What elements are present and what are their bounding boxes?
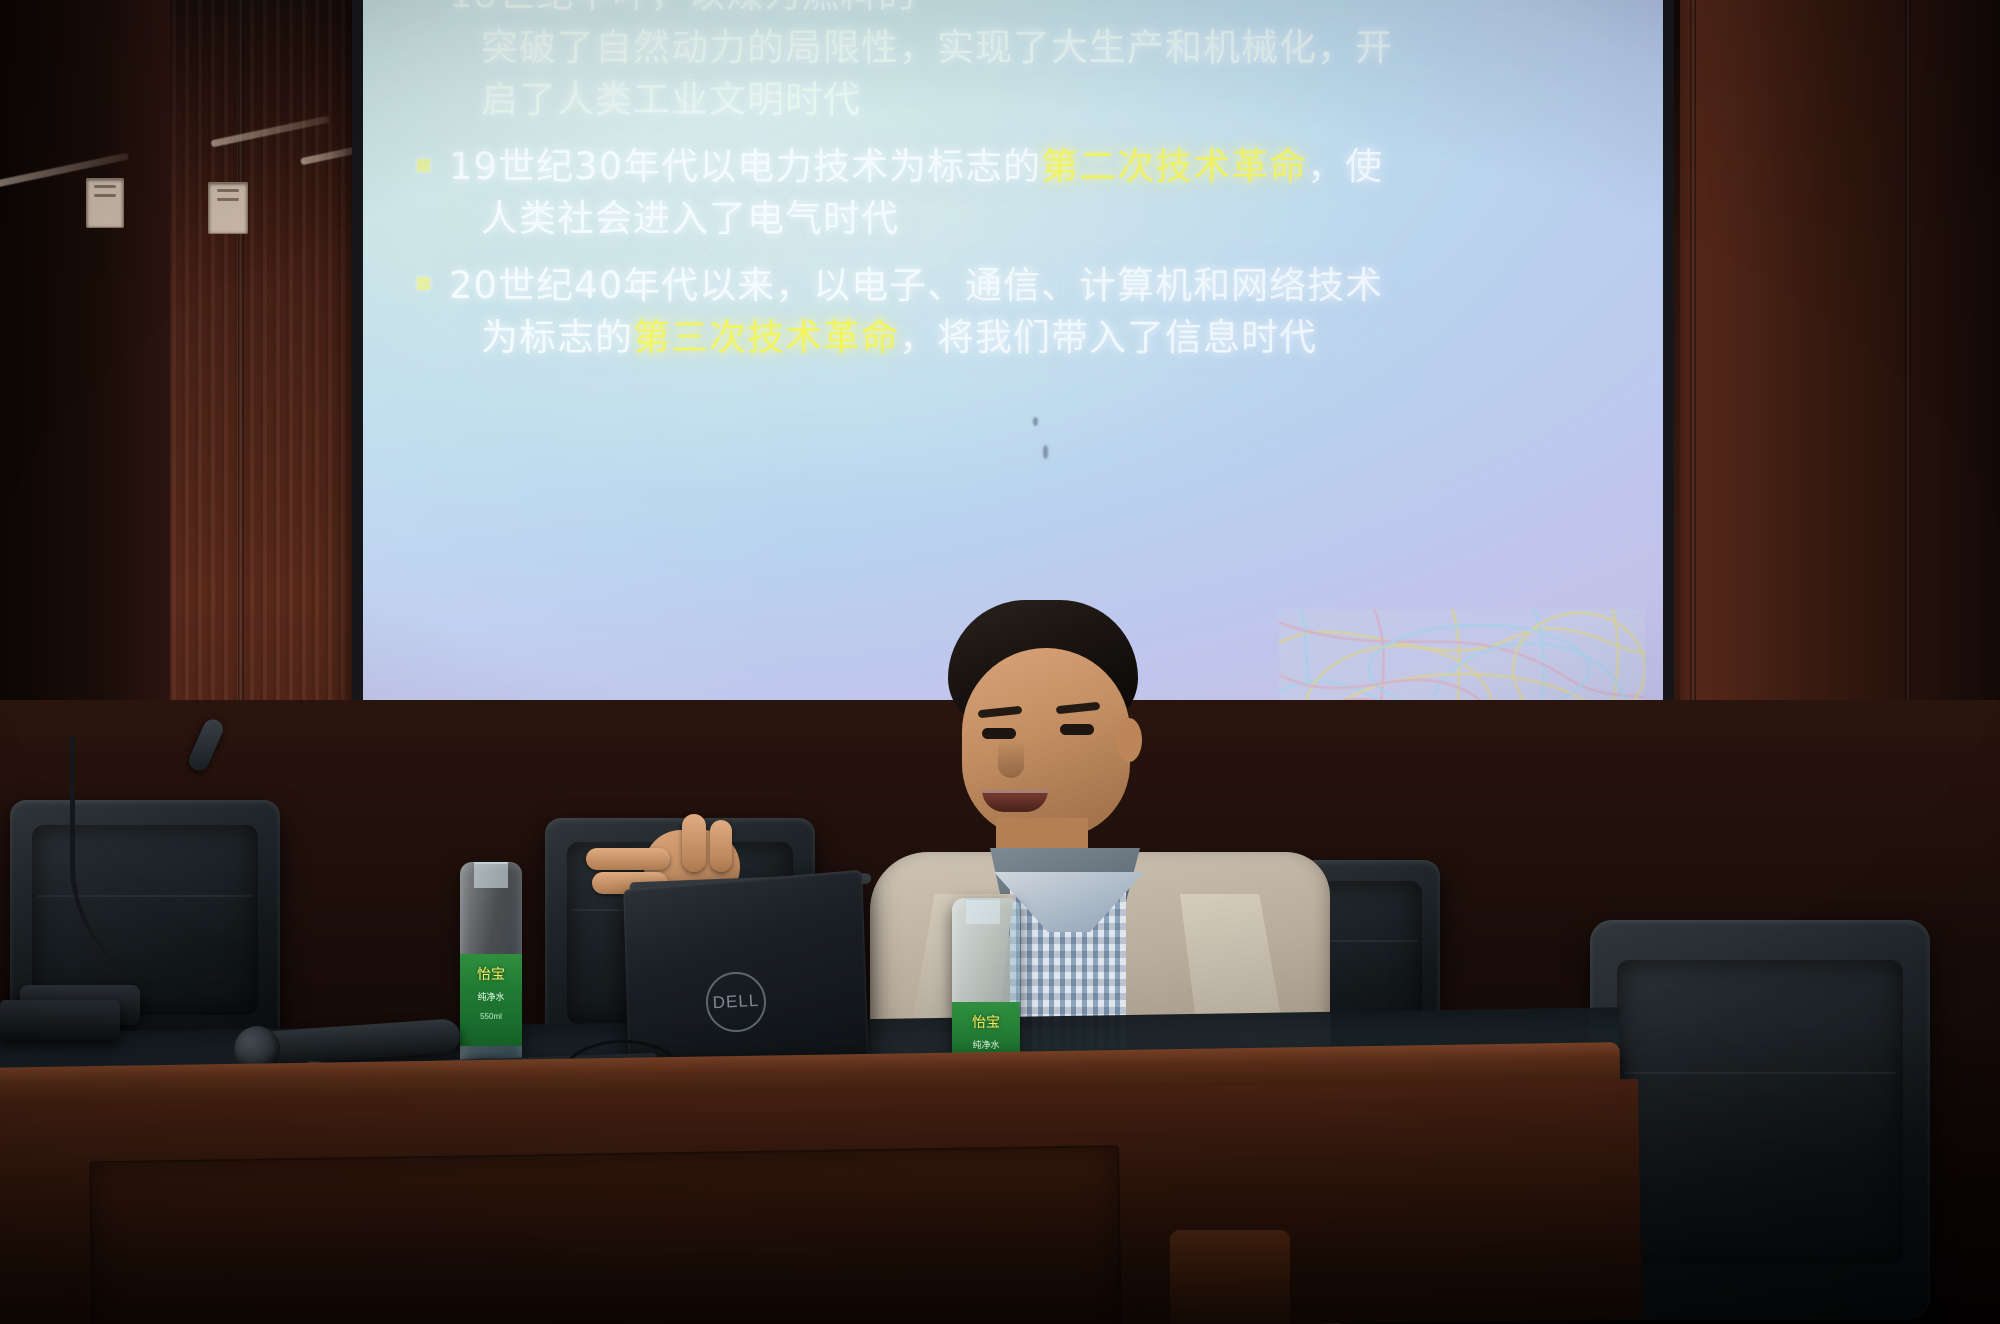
eye-left <box>982 728 1016 739</box>
bottle-sub: 纯净水 <box>460 990 522 1003</box>
bottle-size: 550ml <box>460 1012 522 1021</box>
eye-right <box>1060 724 1094 735</box>
nose <box>998 740 1024 778</box>
ear <box>1116 718 1142 762</box>
water-bottle-back: 怡宝 纯净水 550ml <box>460 862 522 1077</box>
face <box>962 648 1130 838</box>
lecture-hall-photo: 18世纪中叶，以煤为燃料的 突破了自然动力的局限性，实现了大生产和机械化，开 启… <box>0 0 2000 1324</box>
desk-front-panel <box>0 1079 1642 1324</box>
desk-leg-center <box>1170 1230 1290 1324</box>
bottle-brand: 怡宝 <box>952 1012 1020 1032</box>
finger-1 <box>586 848 670 870</box>
bottle-neck <box>474 862 508 888</box>
chair-right <box>1590 920 1930 1320</box>
bottle-neck <box>966 898 1000 924</box>
finger-3 <box>682 814 706 872</box>
wall-plate-1 <box>86 178 124 228</box>
wall-plate-2 <box>208 182 248 234</box>
finger-4 <box>710 820 732 872</box>
mic-base-box <box>0 1000 120 1040</box>
wall-left-shadow <box>0 0 170 760</box>
desk-panel-groove <box>89 1145 1122 1324</box>
bottle-label: 怡宝 纯净水 550ml <box>460 954 522 1046</box>
bottle-brand: 怡宝 <box>460 964 522 984</box>
bottle-sub: 纯净水 <box>952 1038 1020 1051</box>
